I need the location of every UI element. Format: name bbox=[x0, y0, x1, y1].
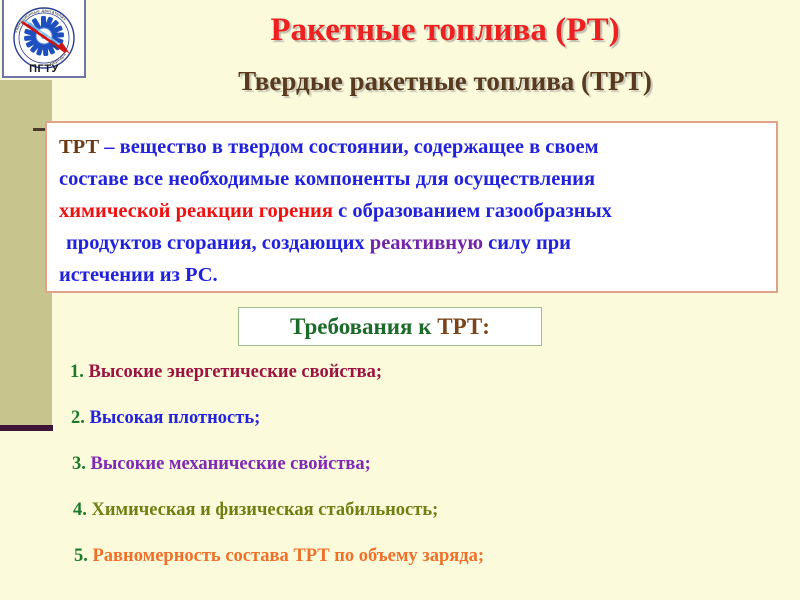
logo-emblem-icon: «авиационные двигатели» кафедра ПГТУ bbox=[4, 0, 84, 76]
purple-divider-rule bbox=[0, 425, 53, 431]
term-trt: ТРТ bbox=[59, 136, 104, 158]
list-item-number: 4. bbox=[73, 500, 87, 520]
highlight-chemical-reaction: химической реакции горения bbox=[59, 200, 338, 222]
definition-line-5: истечении из РС. bbox=[59, 259, 766, 291]
slide-canvas: «авиационные двигатели» кафедра ПГТУ Рак… bbox=[0, 0, 800, 600]
list-item-number: 1. bbox=[70, 362, 84, 382]
definition-box: ТРТ – вещество в твердом состоянии, соде… bbox=[45, 121, 778, 293]
list-item-number: 5. bbox=[74, 546, 88, 566]
requirements-header-box: Требования к ТРТ: bbox=[238, 307, 542, 346]
definition-line-2-text: составе все необходимые компоненты для о… bbox=[59, 168, 595, 190]
list-item: 3. Высокие механические свойства; bbox=[60, 452, 780, 498]
definition-line-3-rest: с образованием газообразных bbox=[338, 200, 612, 222]
highlight-reactive: реактивную bbox=[370, 232, 488, 254]
definition-line-5-text: истечении из РС. bbox=[59, 264, 218, 286]
list-item-label: Равномерность состава ТРТ по объему заря… bbox=[93, 546, 485, 566]
list-item: 2. Высокая плотность; bbox=[60, 406, 780, 452]
definition-line-4-a: продуктов сгорания, создающих bbox=[66, 232, 370, 254]
definition-line-3: химической реакции горения с образование… bbox=[59, 195, 766, 227]
list-item-label: Высокие механические свойства; bbox=[91, 454, 371, 474]
list-item-number: 3. bbox=[72, 454, 86, 474]
slide-subtitle: Твердые ракетные топлива (ТРТ) bbox=[100, 66, 790, 97]
definition-line-1-rest: – вещество в твердом состоянии, содержащ… bbox=[104, 136, 598, 158]
definition-text: ТРТ – вещество в твердом состоянии, соде… bbox=[59, 131, 766, 291]
definition-line-2: составе все необходимые компоненты для о… bbox=[59, 163, 766, 195]
definition-line-4-c: силу при bbox=[488, 232, 571, 254]
university-logo: «авиационные двигатели» кафедра ПГТУ bbox=[2, 0, 86, 78]
list-item: 5. Равномерность состава ТРТ по объему з… bbox=[60, 544, 780, 590]
requirements-list: 1. Высокие энергетические свойства; 2. В… bbox=[60, 360, 780, 590]
requirements-header-brown: ТРТ: bbox=[437, 314, 490, 339]
definition-line-1: ТРТ – вещество в твердом состоянии, соде… bbox=[59, 131, 766, 163]
definition-line-4: продуктов сгорания, создающих реактивную… bbox=[59, 227, 766, 259]
list-item-label: Химическая и физическая стабильность; bbox=[92, 500, 439, 520]
list-item-label: Высокие энергетические свойства; bbox=[89, 362, 383, 382]
svg-text:ПГТУ: ПГТУ bbox=[29, 63, 59, 75]
list-item: 4. Химическая и физическая стабильность; bbox=[60, 498, 780, 544]
requirements-header-green: Требования к bbox=[290, 314, 437, 339]
list-item-number: 2. bbox=[71, 408, 85, 428]
list-item: 1. Высокие энергетические свойства; bbox=[60, 360, 780, 406]
list-item-label: Высокая плотность; bbox=[90, 408, 261, 428]
slide-title: Ракетные топлива (РТ) bbox=[100, 12, 790, 49]
requirements-header-text: Требования к ТРТ: bbox=[290, 314, 490, 340]
